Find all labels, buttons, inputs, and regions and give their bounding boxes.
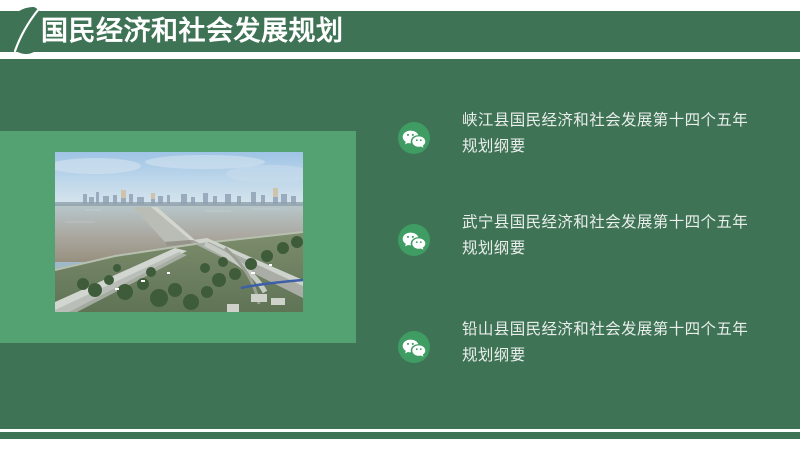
aerial-bridge-city-photo [55, 152, 303, 312]
slide-canvas: 国民经济和社会发展规划 [0, 0, 800, 449]
list-item[interactable]: 峡江县国民经济和社会发展第十四个五年规划纲要 [396, 108, 792, 164]
footer-white-area [0, 439, 800, 449]
list-item[interactable]: 武宁县国民经济和社会发展第十四个五年规划纲要 [396, 210, 792, 266]
list-item-label: 铅山县国民经济和社会发展第十四个五年规划纲要 [462, 317, 762, 369]
page-title: 国民经济和社会发展规划 [41, 11, 344, 52]
list-item-label: 武宁县国民经济和社会发展第十四个五年规划纲要 [462, 210, 762, 262]
wechat-icon [398, 224, 430, 256]
wechat-icon [398, 122, 430, 154]
footer-bar [0, 432, 800, 439]
list-item-label: 峡江县国民经济和社会发展第十四个五年规划纲要 [462, 108, 762, 160]
list-item[interactable]: 铅山县国民经济和社会发展第十四个五年规划纲要 [396, 317, 792, 373]
header-underline-gap [0, 52, 800, 59]
wechat-icon [398, 331, 430, 363]
